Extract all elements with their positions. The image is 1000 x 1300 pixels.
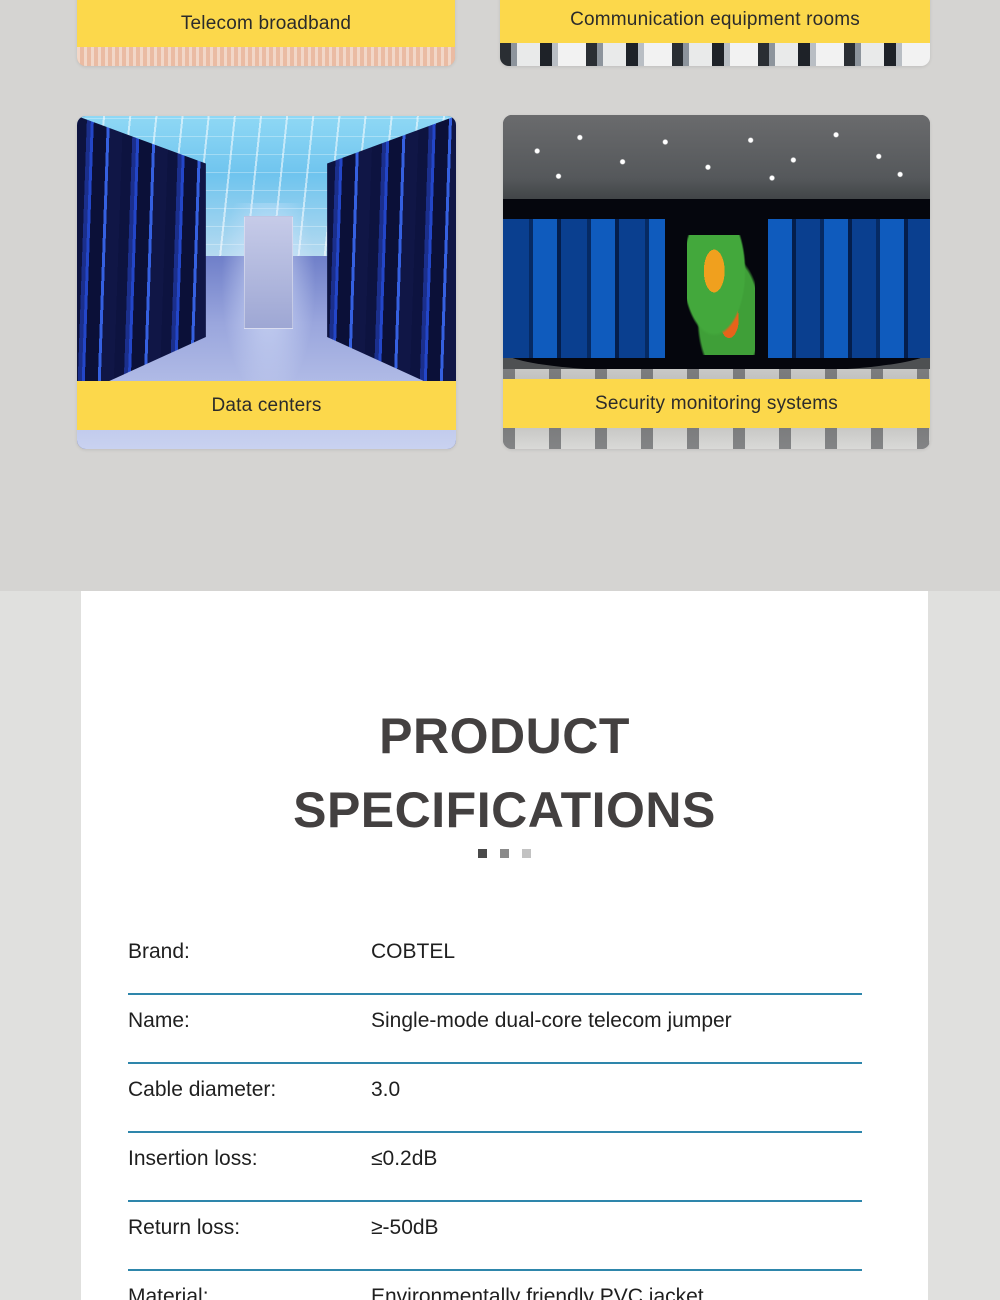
ceiling-lights (503, 115, 930, 205)
panel-side-strip-left (0, 591, 81, 1300)
spec-row: Material: Environmentally friendly PVC j… (128, 1271, 908, 1300)
spec-row: Name: Single-mode dual-core telecom jump… (128, 995, 908, 1064)
page-title-line-1: PRODUCT (81, 700, 928, 774)
spec-value: ≥-50dB (371, 1216, 439, 1240)
application-card-communication-equipment-rooms[interactable]: Communication equipment rooms (500, 0, 930, 66)
application-card-caption: Telecom broadband (77, 0, 455, 47)
spec-row: Brand: COBTEL (128, 926, 908, 995)
decoration-dot-1 (478, 849, 487, 858)
decoration-dot-2 (500, 849, 509, 858)
spec-value: ≤0.2dB (371, 1147, 437, 1171)
spec-label: Insertion loss: (128, 1147, 258, 1171)
spec-label: Name: (128, 1009, 190, 1033)
application-card-security-monitoring-systems[interactable]: Security monitoring systems (503, 115, 930, 449)
corridor-door (244, 216, 293, 329)
spec-value: COBTEL (371, 940, 455, 964)
spec-label: Material: (128, 1285, 209, 1300)
spec-row: Cable diameter: 3.0 (128, 1064, 908, 1133)
product-specifications-panel: PRODUCT SPECIFICATIONS Brand: COBTEL Nam… (81, 591, 928, 1300)
page-title: PRODUCT SPECIFICATIONS (81, 700, 928, 847)
page-title-line-2: SPECIFICATIONS (81, 774, 928, 848)
map-visualization (687, 235, 755, 355)
spec-row: Return loss: ≥-50dB (128, 1202, 908, 1271)
spec-value: Environmentally friendly PVC jacket (371, 1285, 704, 1300)
spec-value: 3.0 (371, 1078, 400, 1102)
spec-label: Cable diameter: (128, 1078, 276, 1102)
specifications-table: Brand: COBTEL Name: Single-mode dual-cor… (128, 926, 908, 1300)
application-cards-section: Telecom broadband Communication equipmen… (0, 0, 1000, 591)
application-card-caption: Security monitoring systems (503, 379, 930, 428)
spec-label: Return loss: (128, 1216, 240, 1240)
spec-row: Insertion loss: ≤0.2dB (128, 1133, 908, 1202)
application-card-telecom-broadband[interactable]: Telecom broadband (77, 0, 455, 66)
title-decoration-dots (81, 849, 928, 858)
spec-value: Single-mode dual-core telecom jumper (371, 1009, 732, 1033)
application-card-data-centers[interactable]: Data centers (77, 116, 456, 449)
application-card-caption: Data centers (77, 381, 456, 430)
product-detail-page: Telecom broadband Communication equipmen… (0, 0, 1000, 1300)
application-card-caption: Communication equipment rooms (500, 0, 930, 43)
spec-label: Brand: (128, 940, 190, 964)
panel-side-strip-right (928, 591, 1000, 1300)
decoration-dot-3 (522, 849, 531, 858)
